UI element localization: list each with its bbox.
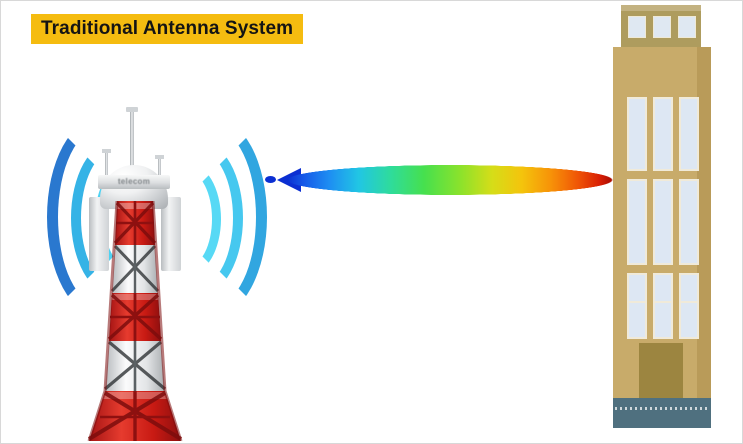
building-window [679,179,699,265]
ground-strip [613,398,711,428]
tower-section-1 [115,201,155,245]
tower-section-4 [105,341,165,391]
radiation-beam-group [265,159,613,201]
penthouse-window [653,16,671,38]
penthouse-window [628,16,646,38]
beam-tip-dot [265,176,276,183]
building-window [653,179,673,265]
building-window [679,97,699,171]
building-window [627,179,647,265]
building-window [679,301,699,339]
illustration-canvas: Traditional Antenna System telecom [0,0,743,444]
antenna-brand-label: telecom [98,175,170,189]
antenna-mast-center-cap [126,107,138,112]
receiver-building-group [613,5,713,428]
page-title: Traditional Antenna System [31,14,303,44]
antenna-mast-left-cap [102,149,111,153]
building-window [627,97,647,171]
building-side-shade [697,47,711,398]
tower-section-2 [112,245,158,293]
tower-section-3 [109,293,161,341]
building-window [653,97,673,171]
beam-lobe [287,165,613,195]
building-penthouse-roof [621,5,701,11]
building-window [627,301,647,339]
building-entrance [639,343,683,399]
ground-dot-pattern [615,407,709,410]
cell-tower-group: telecom [45,105,271,441]
penthouse-window [678,16,696,38]
building-window [653,301,673,339]
lattice-tower [87,201,183,441]
antenna-mast-right-cap [155,155,164,159]
